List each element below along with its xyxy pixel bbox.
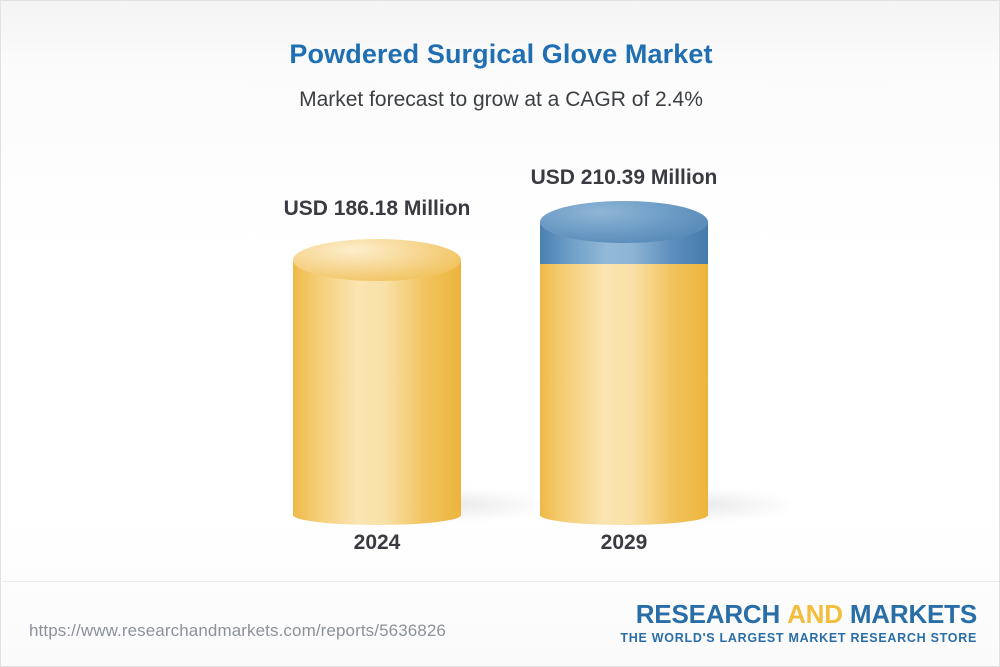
cylinder-segment-base (293, 260, 461, 516)
bar-group-2024: USD 186.18 Million 2024 (247, 1, 507, 601)
cylinder-top-ellipse (293, 239, 461, 281)
chart-plot-area: USD 186.18 Million 2024 USD 210.39 Milli… (1, 1, 1000, 601)
source-url[interactable]: https://www.researchandmarkets.com/repor… (29, 621, 446, 641)
category-label-2024: 2024 (247, 531, 507, 555)
cylinder-segment-base (540, 260, 708, 516)
logo-word-markets: MARKETS (850, 599, 977, 629)
footer-divider (2, 581, 1000, 582)
chart-page: Powdered Surgical Glove Market Market fo… (0, 0, 1000, 667)
logo-wordmark: RESEARCH AND MARKETS (620, 601, 977, 628)
category-label-2029: 2029 (494, 531, 754, 555)
cylinder-bottom-ellipse (293, 505, 461, 525)
cylinder-top-ellipse (540, 201, 708, 243)
cylinder-2029[interactable] (540, 201, 708, 516)
value-label-2024: USD 186.18 Million (247, 197, 507, 221)
cylinder-bottom-ellipse (540, 505, 708, 525)
logo-word-research: RESEARCH (636, 599, 780, 629)
cylinder-2024[interactable] (293, 239, 461, 516)
logo-tagline: THE WORLD'S LARGEST MARKET RESEARCH STOR… (620, 631, 977, 645)
bar-group-2029: USD 210.39 Million 2029 (494, 1, 754, 601)
logo-word-and: AND (787, 599, 843, 629)
research-and-markets-logo[interactable]: RESEARCH AND MARKETS THE WORLD'S LARGEST… (620, 601, 977, 645)
value-label-2029: USD 210.39 Million (494, 166, 754, 190)
